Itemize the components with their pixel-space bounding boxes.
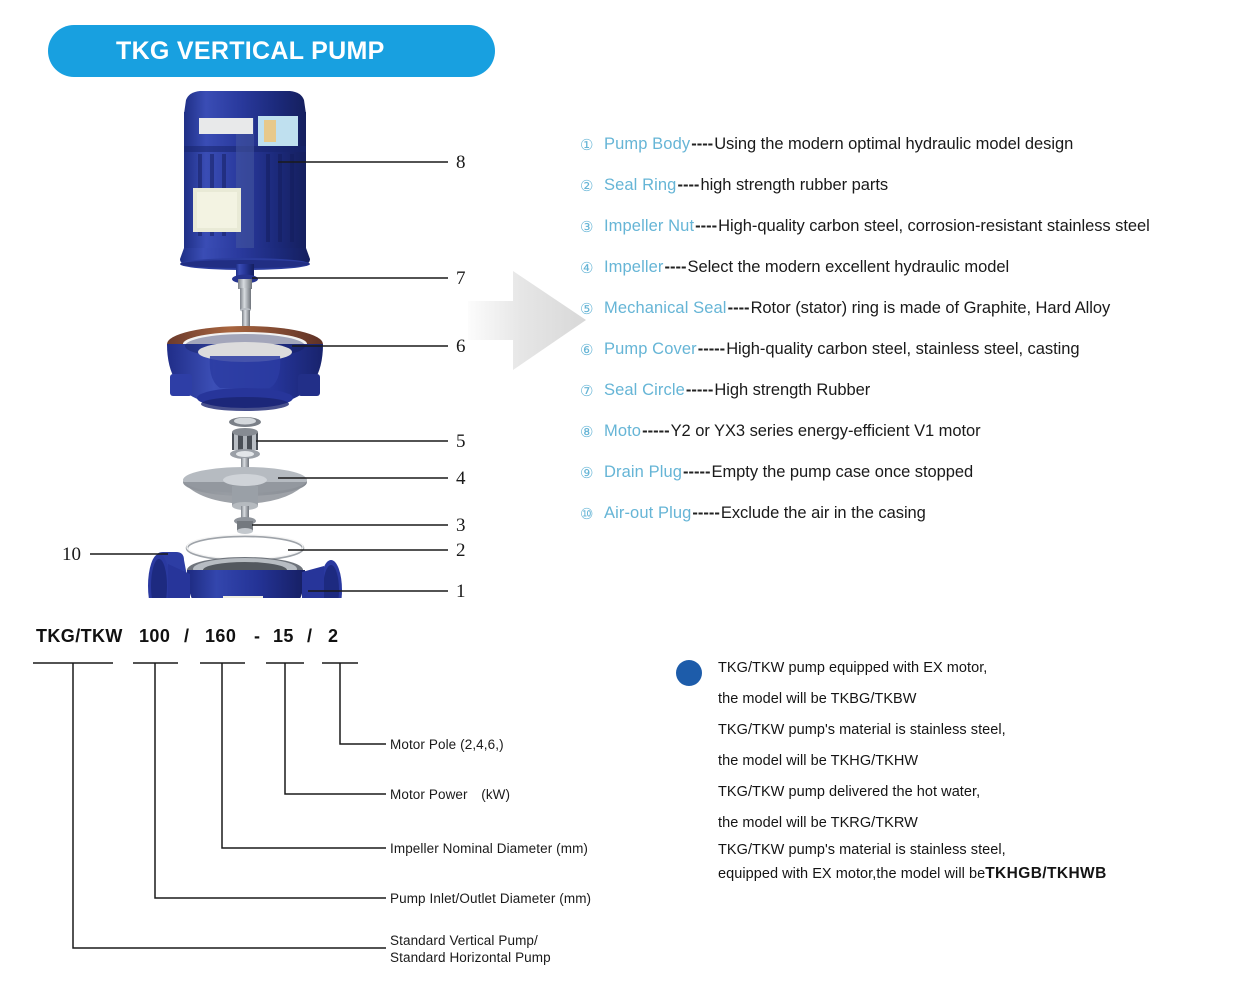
diagram-part-shaft (232, 264, 258, 334)
model-code-leader-lines (0, 626, 620, 966)
legend-part-name: Air-out Plug (604, 504, 691, 523)
legend-number-icon: ⑥ (580, 341, 604, 359)
legend-dash: ---- (690, 135, 714, 154)
callout-7: 7 (456, 268, 466, 289)
diagram-part-impeller (183, 467, 307, 520)
note-line: the model will be TKHG/TKHW (718, 745, 1216, 776)
flow-arrow-icon (468, 258, 593, 383)
legend-item: ⑤ Mechanical Seal ---- Rotor (stator) ri… (580, 288, 1230, 329)
legend-item: ⑦ Seal Circle ----- High strength Rubber (580, 370, 1230, 411)
legend-description: Select the modern excellent hydraulic mo… (687, 258, 1009, 277)
legend-part-name: Drain Plug (604, 463, 682, 482)
legend-item: ⑩ Air-out Plug ----- Exclude the air in … (580, 493, 1230, 534)
legend-dash: ---- (727, 299, 751, 318)
legend-dash: ----- (691, 504, 720, 523)
callout-8: 8 (456, 152, 466, 173)
legend-part-name: Mechanical Seal (604, 299, 727, 318)
legend-dash: ---- (694, 217, 718, 236)
page-title-badge: TKG VERTICAL PUMP (48, 25, 495, 77)
legend-item: ① Pump Body ---- Using the modern optima… (580, 124, 1230, 165)
legend-description: High-quality carbon steel, stainless ste… (726, 340, 1079, 359)
callout-3: 3 (456, 515, 466, 536)
code-label-inlet-outlet: Pump Inlet/Outlet Diameter (mm) (390, 890, 591, 907)
legend-dash: ----- (682, 463, 711, 482)
legend-part-name: Impeller (604, 258, 664, 277)
note-line: TKG/TKW pump's material is stainless ste… (718, 838, 1216, 862)
legend-description: Using the modern optimal hydraulic model… (714, 135, 1073, 154)
callout-5: 5 (456, 431, 466, 452)
legend-part-name: Moto (604, 422, 641, 441)
legend-number-icon: ② (580, 177, 604, 195)
note-line: TKG/TKW pump equipped with EX motor, (718, 652, 1216, 683)
code-label-impeller-diameter: Impeller Nominal Diameter (mm) (390, 840, 588, 857)
legend-part-name: Seal Circle (604, 381, 685, 400)
diagram-part-seal-ring (187, 535, 303, 560)
note-final-model: TKHGB/TKHWB (985, 865, 1107, 883)
note-line: the model will be TKBG/TKBW (718, 683, 1216, 714)
callout-6: 6 (456, 336, 466, 357)
note-final-prefix: equipped with EX motor,the model will be (718, 866, 985, 882)
exploded-pump-diagram: 8 7 6 5 4 3 2 1 10 9 (60, 88, 480, 598)
legend-item: ③ Impeller Nut ---- High-quality carbon … (580, 206, 1230, 247)
callout-1: 1 (456, 581, 466, 598)
variant-notes: TKG/TKW pump equipped with EX motor, the… (676, 652, 1216, 886)
legend-description: Rotor (stator) ring is made of Graphite,… (751, 299, 1111, 318)
legend-item: ④ Impeller ---- Select the modern excell… (580, 247, 1230, 288)
note-line: TKG/TKW pump's material is stainless ste… (718, 714, 1216, 745)
legend-number-icon: ⑩ (580, 505, 604, 523)
diagram-part-pump-cover (167, 326, 323, 411)
legend-dash: ----- (685, 381, 714, 400)
legend-description: High strength Rubber (714, 381, 870, 400)
legend-number-icon: ⑦ (580, 382, 604, 400)
legend-dash: ----- (641, 422, 670, 441)
code-label-motor-power: Motor Power (kW) (390, 786, 510, 803)
model-code-breakdown: TKG/TKW 100 / 160 - 15 / 2 Motor Pol (0, 626, 620, 966)
legend-number-icon: ⑨ (580, 464, 604, 482)
code-label-standard-pump-line1: Standard Vertical Pump/ (390, 932, 538, 949)
bullet-dot-icon (676, 660, 702, 686)
legend-description: high strength rubber parts (700, 176, 888, 195)
legend-item: ⑧ Moto ----- Y2 or YX3 series energy-eff… (580, 411, 1230, 452)
legend-item: ⑨ Drain Plug ----- Empty the pump case o… (580, 452, 1230, 493)
legend-number-icon: ④ (580, 259, 604, 277)
legend-item: ② Seal Ring ---- high strength rubber pa… (580, 165, 1230, 206)
legend-number-icon: ③ (580, 218, 604, 236)
legend-description: High-quality carbon steel, corrosion-res… (718, 217, 1150, 236)
callout-10: 10 (62, 544, 81, 565)
legend-part-name: Pump Cover (604, 340, 697, 359)
diagram-part-motor (180, 91, 310, 270)
legend-number-icon: ⑤ (580, 300, 604, 318)
legend-dash: ----- (697, 340, 726, 359)
legend-item: ⑥ Pump Cover ----- High-quality carbon s… (580, 329, 1230, 370)
parts-legend: ① Pump Body ---- Using the modern optima… (580, 124, 1230, 534)
legend-dash: ---- (676, 176, 700, 195)
legend-description: Y2 or YX3 series energy-efficient V1 mot… (671, 422, 981, 441)
legend-dash: ---- (664, 258, 688, 277)
code-label-standard-pump-line2: Standard Horizontal Pump (390, 949, 551, 966)
code-label-motor-pole: Motor Pole (2,4,6,) (390, 736, 504, 753)
legend-part-name: Pump Body (604, 135, 690, 154)
note-line: the model will be TKRG/TKRW (718, 807, 1216, 838)
legend-number-icon: ⑧ (580, 423, 604, 441)
note-line: TKG/TKW pump delivered the hot water, (718, 776, 1216, 807)
legend-description: Exclude the air in the casing (721, 504, 926, 523)
legend-part-name: Impeller Nut (604, 217, 694, 236)
legend-part-name: Seal Ring (604, 176, 676, 195)
note-line-final: equipped with EX motor,the model will be… (718, 862, 1216, 886)
callout-4: 4 (456, 468, 466, 489)
callout-2: 2 (456, 540, 466, 561)
page-title: TKG VERTICAL PUMP (116, 37, 385, 66)
legend-description: Empty the pump case once stopped (712, 463, 974, 482)
legend-number-icon: ① (580, 136, 604, 154)
